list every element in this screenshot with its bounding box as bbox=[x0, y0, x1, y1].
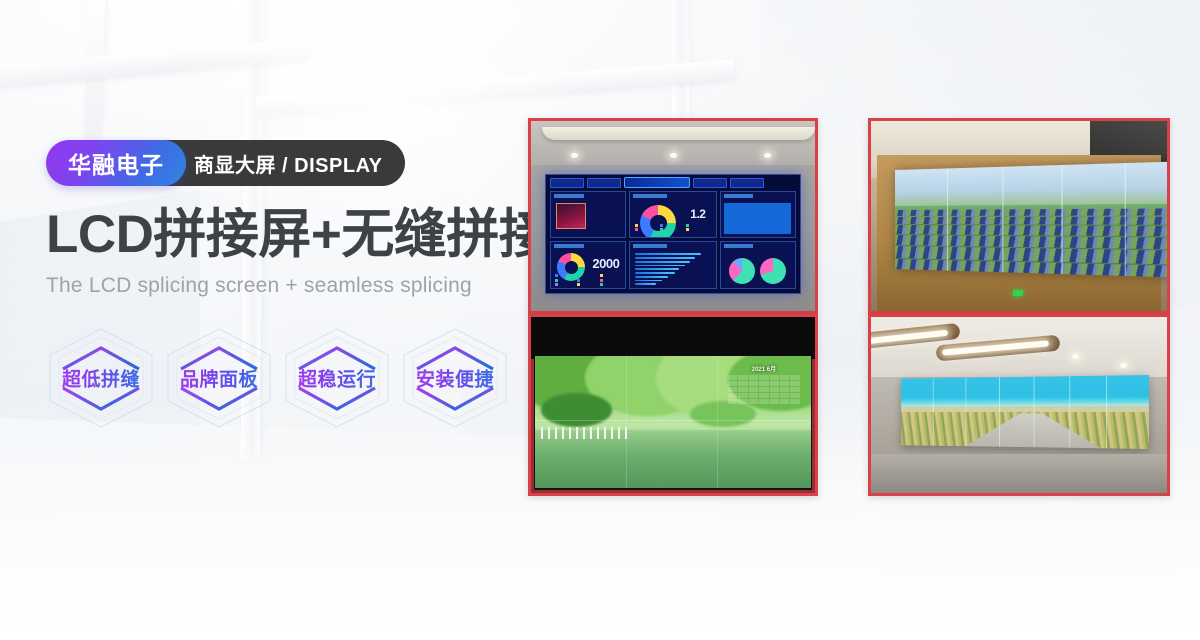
feature-label: 品牌面板 bbox=[160, 365, 278, 392]
feature-label: 超稳运行 bbox=[278, 365, 396, 392]
gallery-photo-beach-boardwalk-video-wall[interactable] bbox=[868, 314, 1170, 496]
page-title: LCD拼接屏+无缝拼接 bbox=[46, 208, 526, 262]
photo-content bbox=[871, 121, 1167, 311]
feature-hex-1[interactable]: 超低拼缝 bbox=[42, 324, 160, 432]
calendar-overlay: 2021 6月 bbox=[728, 364, 800, 425]
feature-list: 超低拼缝 品牌面板 超稳运行 bbox=[42, 324, 526, 432]
feature-hex-3[interactable]: 超稳运行 bbox=[278, 324, 396, 432]
feature-hex-2[interactable]: 品牌面板 bbox=[160, 324, 278, 432]
photo-content: 2021 6月 bbox=[531, 317, 815, 493]
photo-content bbox=[871, 317, 1167, 493]
brand-tag-row: 华融电子 商显大屏 / DISPLAY bbox=[46, 140, 526, 186]
banner-stage: 华融电子 商显大屏 / DISPLAY LCD拼接屏+无缝拼接 The LCD … bbox=[0, 0, 1200, 640]
photo-content: 1.2 bbox=[531, 121, 815, 311]
gallery-photo-solar-farm-video-wall[interactable] bbox=[868, 118, 1170, 314]
headline-block: 华融电子 商显大屏 / DISPLAY LCD拼接屏+无缝拼接 The LCD … bbox=[46, 140, 526, 432]
gallery-photo-dashboard-video-wall[interactable]: 1.2 bbox=[528, 118, 818, 314]
gallery-photo-willow-lake-video-wall[interactable]: 2021 6月 bbox=[528, 314, 818, 496]
feature-label: 安装便捷 bbox=[396, 365, 514, 392]
page-subtitle: The LCD splicing screen + seamless splic… bbox=[46, 274, 526, 298]
brand-pill[interactable]: 华融电子 bbox=[46, 140, 186, 186]
feature-hex-4[interactable]: 安装便捷 bbox=[396, 324, 514, 432]
photo-gallery: 1.2 bbox=[528, 118, 1164, 490]
feature-label: 超低拼缝 bbox=[42, 365, 160, 392]
calendar-title: 2021 6月 bbox=[728, 364, 800, 373]
category-pill[interactable]: 商显大屏 / DISPLAY bbox=[160, 140, 405, 186]
